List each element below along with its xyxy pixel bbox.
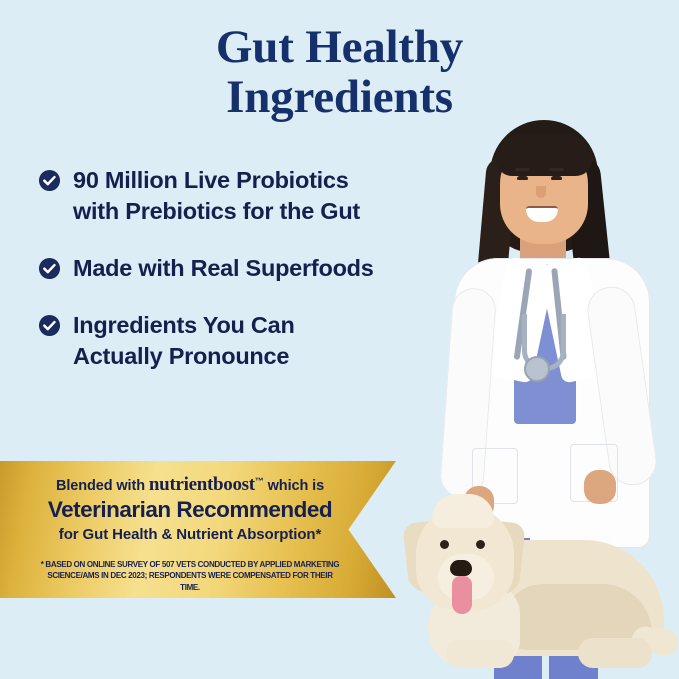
list-item-label: Ingredients You Can Actually Pronounce: [73, 310, 295, 372]
list-item: 90 Million Live Probiotics with Prebioti…: [38, 165, 458, 227]
dog-tongue: [452, 576, 472, 614]
stethoscope-bell: [524, 356, 550, 382]
vet-eyebrow-right: [549, 168, 564, 171]
ribbon-text-block: Blended with nutrientboost™ which is Vet…: [0, 461, 380, 598]
vet-fringe: [496, 134, 592, 176]
ribbon-line-1: Blended with nutrientboost™ which is: [0, 472, 380, 495]
list-item: Made with Real Superfoods: [38, 253, 458, 284]
ribbon-line-1-prefix: Blended with: [56, 478, 149, 494]
headline-line-1: Gut Healthy: [0, 22, 679, 72]
list-item-label: Made with Real Superfoods: [73, 253, 374, 284]
check-circle-icon: [38, 169, 61, 192]
vet-eyebrow-left: [515, 168, 530, 171]
dog-eye-left: [440, 540, 449, 549]
vet-nose: [536, 186, 546, 198]
dog-front-paws: [446, 640, 514, 668]
ribbon-disclaimer: * BASED ON ONLINE SURVEY OF 507 VETS CON…: [13, 559, 366, 594]
promo-image: Gut Healthy Ingredients: [0, 0, 679, 679]
trademark-symbol: ™: [255, 476, 264, 486]
check-circle-icon: [38, 257, 61, 280]
ribbon-headline: Veterinarian Recommended: [0, 497, 380, 523]
benefits-list: 90 Million Live Probiotics with Prebioti…: [38, 165, 458, 398]
list-item: Ingredients You Can Actually Pronounce: [38, 310, 458, 372]
dog-rear-paw: [578, 638, 652, 668]
dog-photo: [392, 488, 679, 679]
headline-line-2: Ingredients: [0, 72, 679, 122]
ribbon-line-1-suffix: which is: [264, 478, 324, 494]
check-circle-icon: [38, 314, 61, 337]
nutrientboost-wordmark: nutrientboost: [149, 474, 255, 495]
page-title: Gut Healthy Ingredients: [0, 22, 679, 122]
dog-eye-right: [476, 540, 485, 549]
vet-eye-left: [517, 176, 528, 180]
ribbon-subline: for Gut Health & Nutrient Absorption*: [0, 525, 380, 544]
dog-topknot: [432, 494, 494, 528]
list-item-label: 90 Million Live Probiotics with Prebioti…: [73, 165, 360, 227]
dog-nose: [450, 560, 472, 576]
vet-eye-right: [551, 176, 562, 180]
